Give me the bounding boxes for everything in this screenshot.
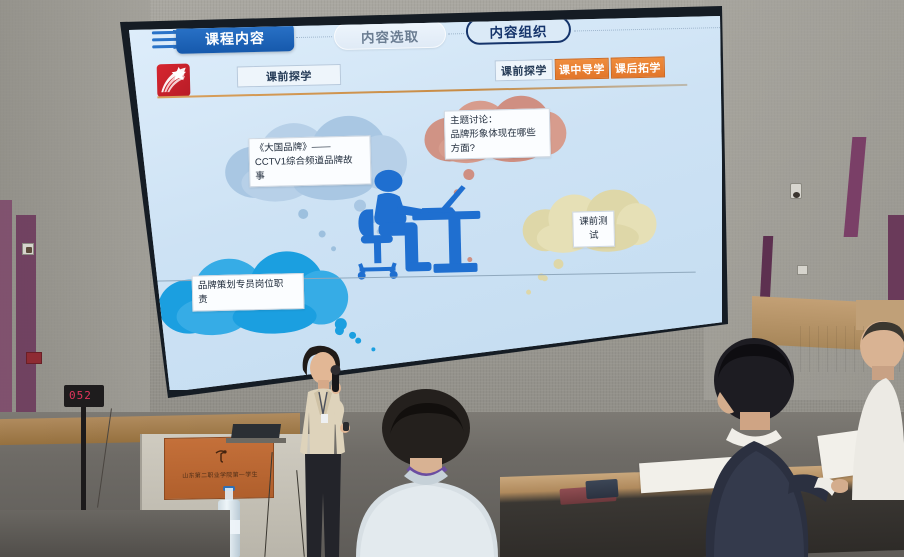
audience-center (338, 388, 518, 557)
cloud-label: 品牌策划专员岗位职 责 (192, 273, 305, 311)
presentation-slide: 课程内容 内容选取 内容组织 课前探学 课前探学 课中导学 (126, 12, 722, 390)
smartphone[interactable] (585, 479, 618, 499)
nav-pill-content-selection[interactable]: 内容选取 (334, 21, 447, 51)
acoustic-panel (0, 200, 12, 430)
laptop[interactable] (226, 424, 286, 444)
wall-sign (26, 352, 42, 364)
lectern-text: 山东第二职业学院第一学生 (171, 469, 269, 480)
lectern-logo-icon (213, 448, 229, 464)
timer-digits: 052 (69, 389, 92, 402)
cloud-label: 《大国品牌》—— CCTV1综合频道品牌故 事 (248, 135, 371, 187)
front-desk (0, 510, 230, 557)
audience-right (698, 336, 848, 557)
cloud-label: 主题讨论： 品牌形象体现在哪些方面? (444, 108, 551, 160)
cloud-keqian-ceshi[interactable]: 课前测试 (520, 189, 657, 256)
cloud-zhuti-taolun[interactable]: 主题讨论： 品牌形象体现在哪些方面? (420, 95, 568, 168)
cloud-label: 课前测试 (572, 211, 615, 248)
tab-kehou-tuoxue[interactable]: 课后拓学 (611, 56, 665, 78)
dotted-connector (296, 36, 332, 38)
dotted-connector (574, 27, 722, 32)
decorative-bubble (371, 347, 375, 351)
decorative-bubble (526, 290, 531, 295)
classroom-scene: 课程内容 内容选取 内容组织 课前探学 课前探学 课中导学 (0, 0, 904, 557)
decorative-bubble (298, 209, 308, 219)
wall-socket[interactable] (22, 243, 34, 255)
person-at-desk-icon (355, 162, 508, 290)
countdown-timer: 052 (64, 385, 104, 411)
tab-keqian-tanxue-left[interactable]: 课前探学 (237, 64, 341, 87)
wall-socket[interactable] (797, 265, 808, 275)
tab-keqian-tanxue[interactable]: 课前探学 (495, 59, 553, 81)
dotted-connector (448, 33, 464, 34)
decorative-bubble (319, 230, 326, 237)
projection-screen[interactable]: 课程内容 内容选取 内容组织 课前探学 课前探学 课中导学 (126, 12, 722, 390)
decorative-bubble (331, 246, 336, 251)
security-camera-icon (790, 183, 802, 199)
decorative-bubble (355, 338, 361, 344)
audience-far-right (852, 320, 904, 500)
institution-logo (157, 64, 191, 98)
cloud-gangwei-zhize[interactable]: 品牌策划专员岗位职 责 (151, 250, 351, 339)
tab-kezhong-daoxue[interactable]: 课中导学 (555, 58, 609, 80)
